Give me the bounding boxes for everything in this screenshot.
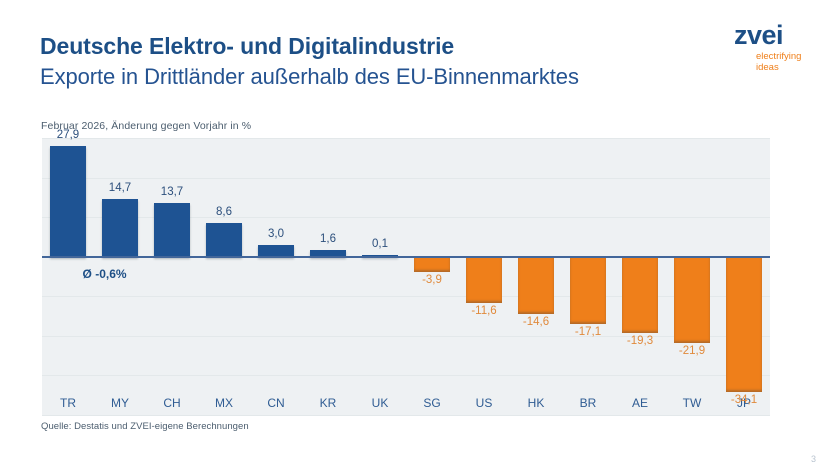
bar-value-label: 13,7 — [161, 186, 183, 198]
bar-value-label: -3,9 — [422, 274, 442, 286]
bar-value-label: -21,9 — [679, 345, 705, 357]
bar-group[interactable]: -21,9 — [666, 138, 718, 415]
bar-mx[interactable] — [206, 223, 242, 257]
bar-br[interactable] — [570, 257, 606, 325]
bar-ch[interactable] — [154, 203, 190, 257]
bar-value-label: 14,7 — [109, 182, 131, 194]
x-axis-tick-mx: MX — [198, 396, 250, 410]
bar-value-label: -11,6 — [471, 305, 496, 317]
bar-value-label: -17,1 — [575, 326, 601, 338]
bar-group[interactable]: 0,1 — [354, 138, 406, 415]
x-axis-tick-uk: UK — [354, 396, 406, 410]
bar-group[interactable]: -34,1 — [718, 138, 770, 415]
bar-tr[interactable] — [50, 146, 86, 256]
title-block: Deutsche Elektro- und Digitalindustrie E… — [40, 32, 700, 92]
zvei-logo: zvei electrifying ideas — [734, 22, 820, 73]
bar-hk[interactable] — [518, 257, 554, 315]
x-axis-tick-hk: HK — [510, 396, 562, 410]
bar-value-label: -34,1 — [731, 394, 757, 406]
chart-zero-line — [42, 256, 770, 258]
bar-group[interactable]: -3,9 — [406, 138, 458, 415]
bar-my[interactable] — [102, 199, 138, 257]
bar-value-label: -14,6 — [523, 316, 549, 328]
chart-plot-area: 27,914,713,78,63,01,60,1-3,9-11,6-14,6-1… — [42, 138, 770, 415]
bar-value-label: 27,9 — [57, 129, 79, 141]
chart-x-axis-labels: TRMYCHMXCNKRUKSGUSHKBRAETWJP — [42, 396, 770, 416]
x-axis-tick-tr: TR — [42, 396, 94, 410]
bar-value-label: 3,0 — [268, 228, 284, 240]
bar-group[interactable]: -11,6 — [458, 138, 510, 415]
source-note: Quelle: Destatis und ZVEI-eigene Berechn… — [41, 421, 249, 432]
bar-sg[interactable] — [414, 257, 450, 272]
chart-bars: 27,914,713,78,63,01,60,1-3,9-11,6-14,6-1… — [42, 138, 770, 415]
bar-group[interactable]: 13,7 — [146, 138, 198, 415]
bar-us[interactable] — [466, 257, 502, 303]
bar-value-label: 0,1 — [372, 238, 388, 250]
bar-group[interactable]: -14,6 — [510, 138, 562, 415]
logo-wordmark: zvei — [734, 22, 820, 49]
x-axis-tick-cn: CN — [250, 396, 302, 410]
x-axis-tick-ae: AE — [614, 396, 666, 410]
bar-group[interactable]: 8,6 — [198, 138, 250, 415]
bar-value-label: 8,6 — [216, 206, 232, 218]
bar-ae[interactable] — [622, 257, 658, 333]
x-axis-tick-kr: KR — [302, 396, 354, 410]
bar-value-label: -19,3 — [627, 335, 653, 347]
bar-jp[interactable] — [726, 257, 762, 392]
bar-group[interactable]: -19,3 — [614, 138, 666, 415]
page-number: 3 — [811, 454, 816, 464]
page-subtitle: Exporte in Drittländer außerhalb des EU-… — [40, 63, 700, 92]
x-axis-tick-ch: CH — [146, 396, 198, 410]
x-axis-tick-sg: SG — [406, 396, 458, 410]
x-axis-tick-tw: TW — [666, 396, 718, 410]
x-axis-tick-us: US — [458, 396, 510, 410]
bar-group[interactable]: -17,1 — [562, 138, 614, 415]
page-title: Deutsche Elektro- und Digitalindustrie — [40, 32, 700, 61]
bar-group[interactable]: 1,6 — [302, 138, 354, 415]
bar-tw[interactable] — [674, 257, 710, 344]
bar-group[interactable]: 3,0 — [250, 138, 302, 415]
x-axis-tick-br: BR — [562, 396, 614, 410]
logo-tagline-line2: ideas — [756, 63, 820, 74]
x-axis-tick-my: MY — [94, 396, 146, 410]
bar-value-label: 1,6 — [320, 233, 336, 245]
average-annotation: Ø -0,6% — [83, 267, 127, 281]
